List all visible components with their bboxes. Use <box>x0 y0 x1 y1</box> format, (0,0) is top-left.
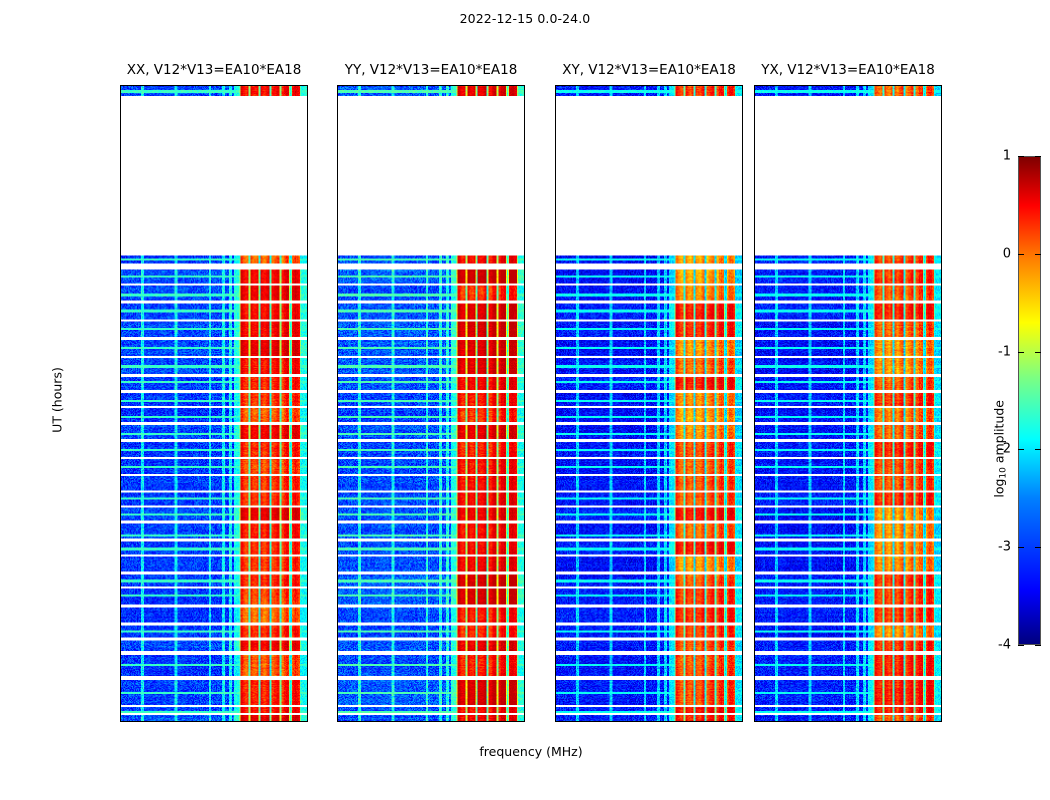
x-tick-top-yx-365 <box>894 85 895 86</box>
panel-title-yx: YX, V12*V13=EA10*EA18 <box>761 62 935 85</box>
colorbar[interactable]: 10-1-2-3-4 <box>1018 156 1041 645</box>
panel-yx[interactable]: YX, V12*V13=EA10*EA18 201510503203353503… <box>754 85 942 722</box>
figure-suptitle: 2022-12-15 0.0-24.0 <box>0 11 1050 26</box>
waterfall-image-xy <box>556 86 742 721</box>
x-tick-top-yy-350 <box>433 85 434 86</box>
y-tick-xy-5 <box>555 590 556 591</box>
x-tick-yx-365 <box>894 721 895 722</box>
x-tick-top-xx-320 <box>130 85 131 86</box>
y-tick-xx-5 <box>120 590 121 591</box>
y-tick-yy-10 <box>337 458 338 459</box>
y-tick-yx-5 <box>754 590 755 591</box>
x-tick-top-xy-365 <box>695 85 696 86</box>
x-tick-yy-320 <box>347 721 348 722</box>
x-tick-top-yy-365 <box>477 85 478 86</box>
y-tick-right-xx-5 <box>307 590 308 591</box>
y-tick-xy-15 <box>555 325 556 326</box>
y-tick-right-xx-10 <box>307 458 308 459</box>
y-tick-right-xx-15 <box>307 325 308 326</box>
panel-xy[interactable]: XY, V12*V13=EA10*EA18 201510503203353503… <box>555 85 743 722</box>
y-tick-yx-15 <box>754 325 755 326</box>
y-tick-right-yx-10 <box>941 458 942 459</box>
waterfall-canvas-yx <box>755 86 941 721</box>
x-tick-top-yy-380 <box>520 85 521 86</box>
x-tick-xy-320 <box>565 721 566 722</box>
x-tick-xx-335 <box>173 721 174 722</box>
y-axis-title: UT (hours) <box>49 367 64 433</box>
colorbar-tick--1 <box>1018 352 1024 353</box>
x-tick-yx-350 <box>850 721 851 722</box>
colorbar-tick-label--1: -1 <box>998 344 1011 359</box>
x-tick-top-xy-335 <box>608 85 609 86</box>
x-tick-top-xx-365 <box>260 85 261 86</box>
panel-title-yy: YY, V12*V13=EA10*EA18 <box>345 62 518 85</box>
y-tick-right-yx-20 <box>941 192 942 193</box>
colorbar-tick-right-0 <box>1035 254 1041 255</box>
x-tick-xx-350 <box>216 721 217 722</box>
y-tick-right-yx-15 <box>941 325 942 326</box>
colorbar-tick-0 <box>1018 254 1024 255</box>
colorbar-tick--4 <box>1018 645 1024 646</box>
y-tick-right-xy-20 <box>742 192 743 193</box>
y-tick-right-yy-20 <box>524 192 525 193</box>
y-tick-right-xy-15 <box>742 325 743 326</box>
waterfall-canvas-xy <box>556 86 742 721</box>
x-tick-xy-380 <box>738 721 739 722</box>
colorbar-tick-label--3: -3 <box>998 540 1011 555</box>
colorbar-tick-label-0: 0 <box>1003 246 1011 261</box>
x-tick-yy-365 <box>477 721 478 722</box>
waterfall-image-xx <box>121 86 307 721</box>
x-tick-top-yx-335 <box>807 85 808 86</box>
colorbar-tick--2 <box>1018 449 1024 450</box>
x-tick-yx-320 <box>764 721 765 722</box>
x-tick-yy-335 <box>390 721 391 722</box>
x-tick-top-xy-350 <box>651 85 652 86</box>
y-tick-right-yx-5 <box>941 590 942 591</box>
x-tick-top-xx-380 <box>303 85 304 86</box>
x-tick-xx-365 <box>260 721 261 722</box>
x-tick-top-xx-350 <box>216 85 217 86</box>
x-tick-top-xx-335 <box>173 85 174 86</box>
colorbar-tick-label-1: 1 <box>1003 149 1011 164</box>
x-tick-top-yx-350 <box>850 85 851 86</box>
x-tick-top-yx-380 <box>937 85 938 86</box>
colorbar-tick-label--2: -2 <box>998 442 1011 457</box>
x-tick-top-xy-320 <box>565 85 566 86</box>
x-tick-xy-335 <box>608 721 609 722</box>
y-tick-right-yy-10 <box>524 458 525 459</box>
x-tick-top-yx-320 <box>764 85 765 86</box>
x-tick-xx-320 <box>130 721 131 722</box>
panel-axes-yx[interactable]: 20151050320335350365380 <box>754 85 942 722</box>
x-tick-top-xy-380 <box>738 85 739 86</box>
y-tick-xy-20 <box>555 192 556 193</box>
colorbar-tick-right-1 <box>1035 156 1041 157</box>
waterfall-canvas-yy <box>338 86 524 721</box>
panel-yy[interactable]: YY, V12*V13=EA10*EA18 201510503203353503… <box>337 85 525 722</box>
y-tick-yy-15 <box>337 325 338 326</box>
y-tick-xx-15 <box>120 325 121 326</box>
x-axis-title: frequency (MHz) <box>120 744 942 759</box>
panel-title-xy: XY, V12*V13=EA10*EA18 <box>562 62 736 85</box>
panel-axes-xx[interactable]: 20151050320335350365380 <box>120 85 308 722</box>
colorbar-tick-right--1 <box>1035 352 1041 353</box>
colorbar-tick--3 <box>1018 547 1024 548</box>
panel-xx[interactable]: XX, V12*V13=EA10*EA18 201510503203353503… <box>120 85 308 722</box>
y-tick-yx-10 <box>754 458 755 459</box>
y-tick-right-xy-5 <box>742 590 743 591</box>
x-tick-xy-350 <box>651 721 652 722</box>
y-tick-right-xy-10 <box>742 458 743 459</box>
colorbar-tick-right--2 <box>1035 449 1041 450</box>
y-tick-xx-10 <box>120 458 121 459</box>
x-tick-top-yy-335 <box>390 85 391 86</box>
x-tick-xx-380 <box>303 721 304 722</box>
x-tick-yy-350 <box>433 721 434 722</box>
colorbar-tick-right--3 <box>1035 547 1041 548</box>
colorbar-tick-1 <box>1018 156 1024 157</box>
y-tick-right-xx-20 <box>307 192 308 193</box>
y-tick-yx-20 <box>754 192 755 193</box>
y-tick-right-yy-15 <box>524 325 525 326</box>
figure-canvas: 2022-12-15 0.0-24.0 UT (hours) frequency… <box>0 0 1050 800</box>
panel-title-xx: XX, V12*V13=EA10*EA18 <box>127 62 302 85</box>
colorbar-gradient <box>1018 156 1041 645</box>
y-tick-right-yy-5 <box>524 590 525 591</box>
colorbar-tick-label--4: -4 <box>998 638 1011 653</box>
panel-axes-yy[interactable]: 20151050320335350365380 <box>337 85 525 722</box>
x-tick-yx-335 <box>807 721 808 722</box>
colorbar-tick-right--4 <box>1035 645 1041 646</box>
x-tick-top-yy-320 <box>347 85 348 86</box>
waterfall-image-yy <box>338 86 524 721</box>
y-tick-xx-20 <box>120 192 121 193</box>
x-tick-yx-380 <box>937 721 938 722</box>
y-tick-yy-5 <box>337 590 338 591</box>
waterfall-canvas-xx <box>121 86 307 721</box>
x-tick-xy-365 <box>695 721 696 722</box>
waterfall-image-yx <box>755 86 941 721</box>
y-tick-yy-20 <box>337 192 338 193</box>
x-tick-yy-380 <box>520 721 521 722</box>
y-tick-xy-10 <box>555 458 556 459</box>
panel-axes-xy[interactable]: 20151050320335350365380 <box>555 85 743 722</box>
